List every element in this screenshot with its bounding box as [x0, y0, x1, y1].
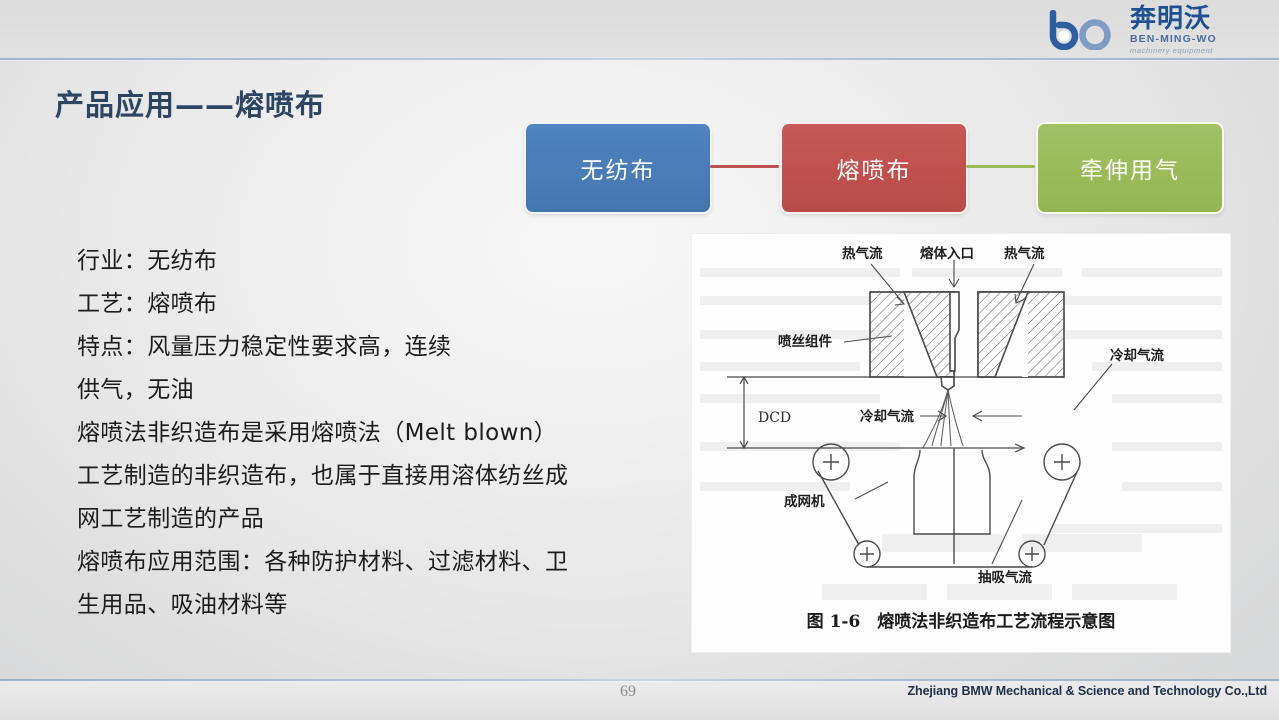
body-line: 熔喷布应用范围：各种防护材料、过滤材料、卫	[77, 541, 677, 584]
logo-tagline: machinery equipment	[1130, 47, 1217, 55]
figure-caption: 图 1-6 熔喷法非织造布工艺流程示意图	[807, 611, 1116, 632]
process-flow: 无纺布 熔喷布 牵伸用气	[524, 122, 1229, 212]
body-line: 供气，无油	[77, 369, 677, 412]
logo-text-block: 奔明沃 BEN-MING-WO machinery equipment	[1130, 6, 1217, 54]
flow-box-meltblown[interactable]: 熔喷布	[780, 122, 968, 214]
body-line: 特点：风量压力稳定性要求高，连续	[77, 326, 677, 369]
figure-label-spinneret: 喷丝组件	[778, 333, 832, 350]
logo-brand-en: BEN-MING-WO	[1130, 34, 1217, 45]
body-line: 工艺制造的非织造布，也属于直接用溶体纺丝成	[77, 455, 677, 498]
figure-label-dcd: DCD	[758, 410, 791, 426]
flow-connector-2	[966, 165, 1035, 168]
slide-canvas: 奔明沃 BEN-MING-WO machinery equipment 产品应用…	[0, 0, 1279, 720]
figure-label-web-former: 成网机	[784, 493, 825, 510]
body-line: 行业：无纺布	[77, 240, 677, 283]
figure-label-cooling-air-right: 冷却气流	[1110, 347, 1164, 364]
page-number: 69	[600, 683, 656, 701]
body-line: 熔喷法非织造布是采用熔喷法（Melt blown）	[77, 412, 677, 455]
meltblown-process-diagram: DCD	[692, 234, 1230, 652]
company-name: Zhejiang BMW Mechanical & Science and Te…	[908, 684, 1268, 698]
bo-monogram-icon	[1047, 10, 1123, 50]
body-line: 网工艺制造的产品	[77, 498, 677, 541]
flow-connector-1	[710, 165, 779, 168]
flow-box-drawing-air[interactable]: 牵伸用气	[1036, 122, 1224, 214]
body-line: 工艺：熔喷布	[77, 283, 677, 326]
process-diagram-figure: DCD	[692, 234, 1230, 652]
flow-box-nonwoven[interactable]: 无纺布	[524, 122, 712, 214]
figure-label-melt-inlet: 熔体入口	[920, 245, 974, 262]
header-divider	[0, 58, 1279, 61]
body-text-block: 行业：无纺布 工艺：熔喷布 特点：风量压力稳定性要求高，连续 供气，无油 熔喷法…	[77, 240, 677, 627]
page-title: 产品应用——熔喷布	[55, 82, 325, 124]
figure-label-hot-air-left: 热气流	[842, 245, 883, 262]
figure-label-cooling-air-center: 冷却气流	[860, 408, 914, 425]
logo-brand-cn: 奔明沃	[1130, 6, 1217, 32]
figure-label-suction-air: 抽吸气流	[978, 569, 1032, 586]
body-line: 生用品、吸油材料等	[77, 584, 677, 627]
company-logo: 奔明沃 BEN-MING-WO machinery equipment	[1047, 4, 1265, 56]
figure-label-hot-air-right: 热气流	[1004, 245, 1045, 262]
